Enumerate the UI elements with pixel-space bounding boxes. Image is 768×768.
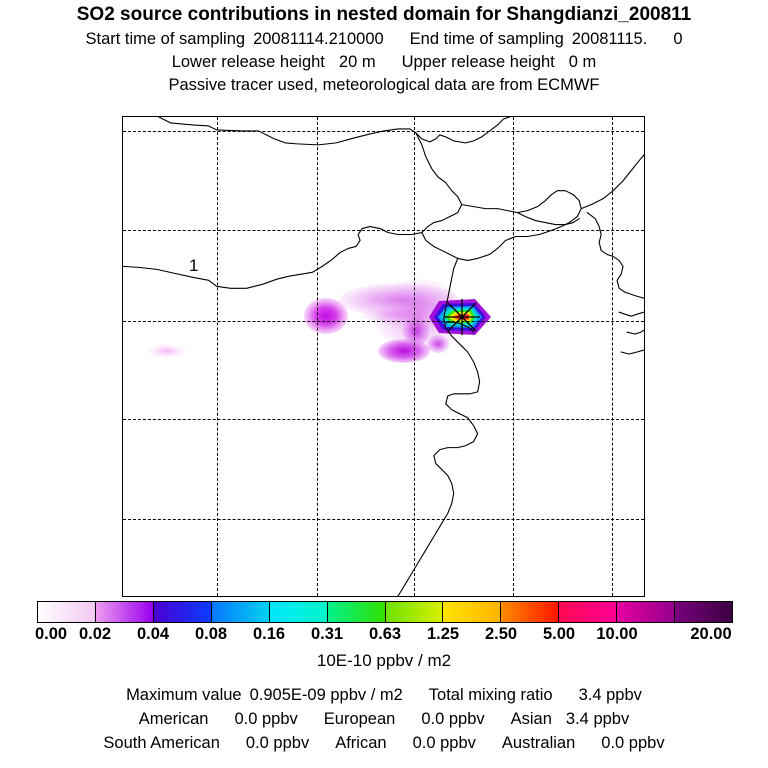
colorbar-segment-4 [270, 602, 328, 622]
sampling-time-line: Start time of sampling20081114.210000End… [0, 28, 768, 51]
colorbar-segment-0 [38, 602, 96, 622]
end-time-value: 20081115. [572, 30, 648, 48]
region-name-australian: Australian [502, 731, 575, 755]
colorbar-tick-2.50: 2.50 [485, 624, 517, 644]
colorbar-tick-0.02: 0.02 [79, 624, 111, 644]
region-name-american: American [139, 707, 209, 731]
region-value-american: 0.0 ppbv [234, 707, 297, 731]
upper-release-value: 0 m [569, 53, 597, 71]
colorbar-segment-6 [386, 602, 444, 622]
colorbar-tick-10.00: 10.00 [596, 624, 637, 644]
region-value-asian: 3.4 ppbv [566, 707, 629, 731]
lower-release-label: Lower release height [172, 53, 325, 71]
map-label-layer: 1 [123, 117, 644, 596]
method-note: Passive tracer used, meteorological data… [0, 74, 768, 97]
max-value: 0.905E-09 ppbv / m2 [250, 683, 403, 707]
colorbar[interactable] [37, 601, 733, 623]
region-name-african: African [335, 731, 386, 755]
colorbar-tick-0.00: 0.00 [35, 624, 67, 644]
footer-stats: Maximum value0.905E-09 ppbv / m2Total mi… [0, 683, 768, 755]
colorbar-tick-0.31: 0.31 [311, 624, 343, 644]
end-time-value-extra: 0 [673, 30, 682, 48]
colorbar-segment-11 [675, 602, 732, 622]
release-height-line: Lower release height20 mUpper release he… [0, 51, 768, 74]
colorbar-tick-0.04: 0.04 [137, 624, 169, 644]
colorbar-tick-labels: 0.000.020.040.080.160.310.631.252.505.00… [0, 624, 768, 644]
map-plot-area[interactable]: 1 [122, 116, 645, 597]
max-value-label: Maximum value [126, 683, 242, 707]
footer-line-regions-1: American0.0 ppbvEuropean0.0 ppbvAsian3.4… [0, 707, 768, 731]
region-name-european: European [324, 707, 396, 731]
footer-line-regions-2: South American0.0 ppbvAfrican0.0 ppbvAus… [0, 731, 768, 755]
region-value-australian: 0.0 ppbv [601, 731, 664, 755]
page-title: SO2 source contributions in nested domai… [0, 0, 768, 28]
colorbar-segment-8 [501, 602, 559, 622]
colorbar-unit-label: 10E-10 ppbv / m2 [0, 650, 768, 672]
colorbar-segment-1 [96, 602, 154, 622]
start-time-label: Start time of sampling [86, 30, 246, 48]
colorbar-segment-3 [212, 602, 270, 622]
total-mixing-ratio-value: 3.4 ppbv [579, 683, 642, 707]
header-block: SO2 source contributions in nested domai… [0, 0, 768, 97]
region-value-european: 0.0 ppbv [421, 707, 484, 731]
colorbar-tick-20.00: 20.00 [690, 624, 731, 644]
region-value-south-american: 0.0 ppbv [246, 731, 309, 755]
region-value-african: 0.0 ppbv [413, 731, 476, 755]
colorbar-tick-1.25: 1.25 [427, 624, 459, 644]
lower-release-value: 20 m [339, 53, 376, 71]
region-name-asian: Asian [511, 707, 552, 731]
end-time-label: End time of sampling [410, 30, 564, 48]
colorbar-segment-2 [154, 602, 212, 622]
upper-release-label: Upper release height [402, 53, 555, 71]
start-time-value: 20081114.210000 [253, 30, 384, 48]
domain-number-label: 1 [189, 257, 198, 274]
colorbar-tick-0.08: 0.08 [195, 624, 227, 644]
colorbar-tick-5.00: 5.00 [543, 624, 575, 644]
colorbar-segment-10 [617, 602, 675, 622]
total-mixing-ratio-label: Total mixing ratio [429, 683, 553, 707]
colorbar-tick-0.16: 0.16 [253, 624, 285, 644]
colorbar-segment-5 [328, 602, 386, 622]
footer-line-max: Maximum value0.905E-09 ppbv / m2Total mi… [0, 683, 768, 707]
colorbar-segment-7 [443, 602, 501, 622]
colorbar-tick-0.63: 0.63 [369, 624, 401, 644]
colorbar-segment-9 [559, 602, 617, 622]
region-name-south-american: South American [103, 731, 219, 755]
